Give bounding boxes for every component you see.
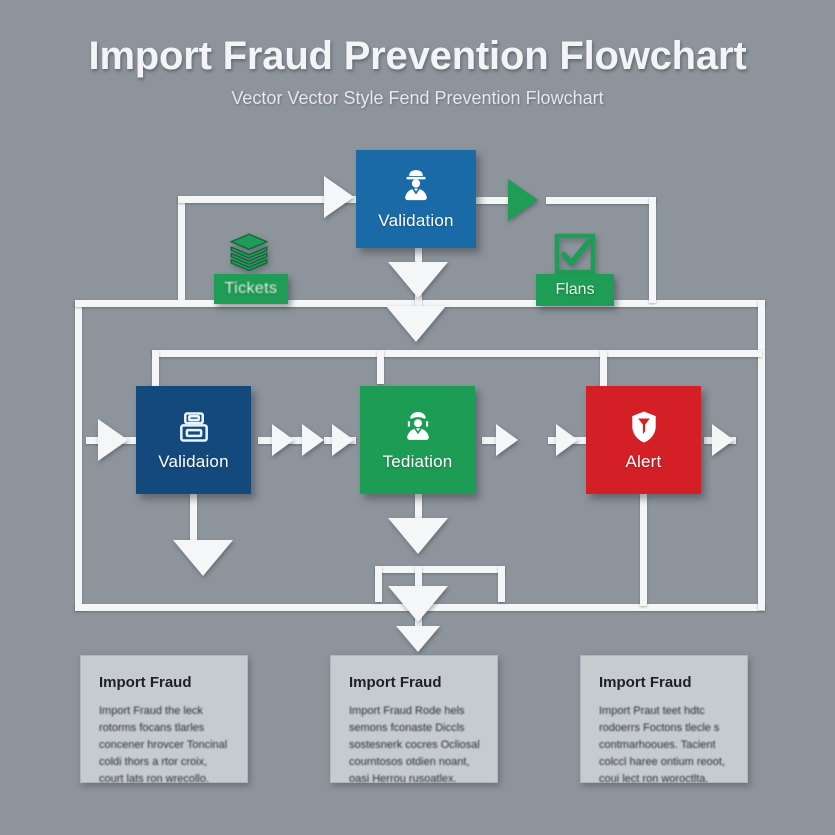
panel-body: Import Fraud Rode hels semons fconaste D… bbox=[349, 703, 481, 788]
arrow-validation-left-to-tediation-c bbox=[332, 424, 354, 456]
connector-branch-bracket-right bbox=[498, 566, 505, 602]
arrow-tediation-down-a bbox=[388, 518, 448, 554]
panel-left[interactable]: Import Fraud Import Fraud the leck rotor… bbox=[80, 655, 248, 783]
arrow-validation-top-down-a bbox=[388, 262, 448, 298]
arrow-validation-left-down bbox=[173, 540, 233, 576]
node-tediation[interactable]: Tediation bbox=[360, 386, 475, 494]
node-label: Validation bbox=[378, 211, 453, 231]
chip-label: Tickets bbox=[225, 280, 278, 298]
arrow-alert-out-right bbox=[712, 424, 734, 456]
connector-outer-left-vertical bbox=[75, 300, 82, 610]
node-label: Alert bbox=[626, 452, 662, 472]
node-validation-top[interactable]: Validation bbox=[356, 150, 476, 248]
connector-validation-top-right-b bbox=[546, 197, 656, 204]
arrow-tediation-down-b bbox=[388, 586, 448, 622]
panel-heading: Import Fraud bbox=[599, 674, 731, 691]
panel-body: Import Fraud the leck rotorms focans tla… bbox=[99, 703, 231, 788]
chip-tickets[interactable]: Tickets bbox=[214, 274, 288, 304]
connector-branch-bracket-top bbox=[375, 566, 505, 573]
connector-outer-right-vertical-upper bbox=[758, 300, 765, 350]
flowchart-canvas: Import Fraud Prevention Flowchart Vector… bbox=[0, 0, 835, 835]
arrow-tediation-to-alert-b bbox=[556, 424, 578, 456]
stacked-layers-icon bbox=[224, 228, 274, 278]
connector-alert-drop bbox=[640, 494, 647, 606]
node-validation-left[interactable]: Validaion bbox=[136, 386, 251, 494]
panel-center[interactable]: Import Fraud Import Fraud Rode hels semo… bbox=[330, 655, 498, 783]
panel-heading: Import Fraud bbox=[99, 674, 231, 691]
node-label: Tediation bbox=[383, 452, 453, 472]
arrow-tediation-to-alert-a bbox=[496, 424, 518, 456]
node-label: Validaion bbox=[158, 452, 228, 472]
arrow-validation-top-down-b bbox=[386, 306, 446, 342]
node-alert[interactable]: Alert bbox=[586, 386, 701, 494]
connector-left-feeder-vertical bbox=[178, 196, 185, 304]
chip-label: Flans bbox=[555, 281, 594, 299]
connector-branch-bracket-left bbox=[375, 566, 382, 602]
agent-icon bbox=[399, 408, 437, 446]
chip-flans[interactable]: Flans bbox=[536, 274, 614, 306]
connector-mid-rail-center-drop bbox=[377, 350, 384, 384]
arrow-validation-left-to-tediation-a bbox=[272, 424, 294, 456]
shield-alert-icon bbox=[625, 408, 663, 446]
panel-right[interactable]: Import Fraud Import Praut teet hdtc rodo… bbox=[580, 655, 748, 783]
arrow-into-validation-top bbox=[324, 176, 354, 218]
page-title: Import Fraud Prevention Flowchart bbox=[0, 34, 835, 79]
arrow-validation-left-to-tediation-b bbox=[302, 424, 324, 456]
connector-validation-left-drop bbox=[190, 494, 197, 544]
page-subtitle: Vector Vector Style Fend Prevention Flow… bbox=[0, 88, 835, 109]
arrow-into-validation-left bbox=[98, 419, 128, 461]
connector-mid-rail-horizontal bbox=[152, 350, 762, 357]
checklist-icon bbox=[551, 230, 599, 278]
connector-right-feeder-vertical bbox=[649, 197, 656, 303]
connector-outer-right-vertical-lower bbox=[758, 350, 765, 610]
inspector-icon bbox=[397, 167, 435, 205]
panel-body: Import Praut teet hdtc rodoerrs Foctons … bbox=[599, 703, 731, 788]
arrow-tediation-down-c bbox=[396, 626, 440, 652]
document-archive-icon bbox=[175, 408, 213, 446]
arrow-validation-top-to-flans bbox=[508, 179, 538, 221]
panel-heading: Import Fraud bbox=[349, 674, 481, 691]
